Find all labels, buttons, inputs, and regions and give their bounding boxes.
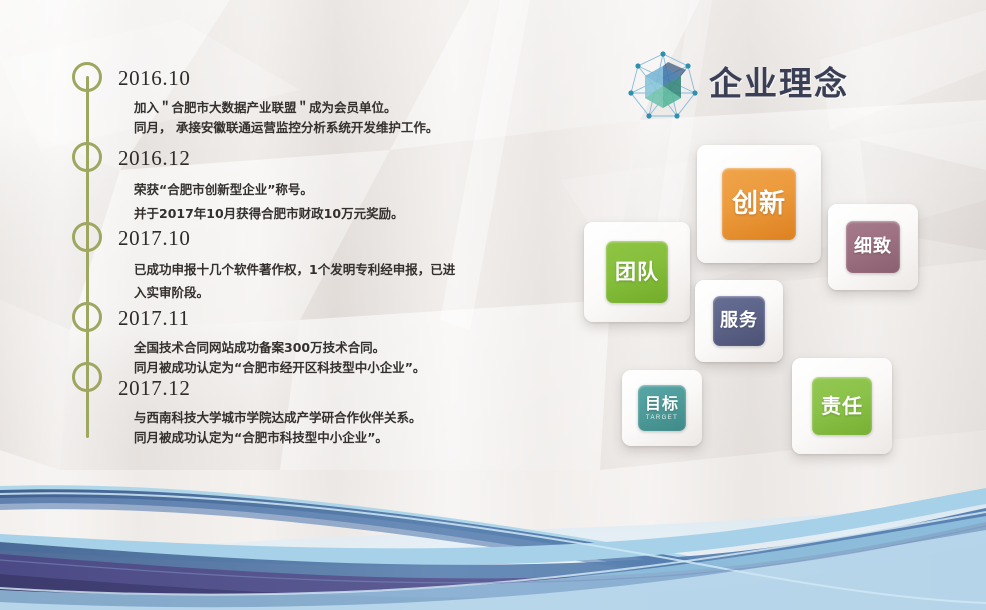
concept-card-team[interactable]: 团队 — [584, 222, 690, 322]
concept-label: 细致 — [854, 238, 892, 256]
timeline-line: 全国技术合同网站成功备案300万技术合同。 — [134, 338, 425, 358]
timeline-line: 同月被成功认定为“合肥市科技型中小企业”。 — [134, 428, 422, 448]
timeline-entry-2: 2017.10 已成功申报十几个软件著作权，1个发明专利经申报，已进入实审阶段。 — [118, 228, 464, 304]
concept-card-meticulous[interactable]: 细致 — [828, 204, 918, 290]
timeline-date: 2017.10 — [118, 228, 464, 249]
timeline-line: 与西南科技大学城市学院达成产学研合作伙伴关系。 — [134, 408, 422, 428]
concept-chip: 创新 — [722, 168, 796, 240]
timeline-entry-1: 2016.12 荣获“合肥市创新型企业”称号。 并于2017年10月获得合肥市财… — [118, 148, 404, 226]
timeline-node-0 — [72, 62, 102, 92]
timeline-description: 与西南科技大学城市学院达成产学研合作伙伴关系。 同月被成功认定为“合肥市科技型中… — [118, 408, 422, 448]
timeline-line: 同月被成功认定为“合肥市经开区科技型中小企业”。 — [134, 358, 425, 378]
timeline-node-3 — [72, 302, 102, 332]
timeline-description: 全国技术合同网站成功备案300万技术合同。 同月被成功认定为“合肥市经开区科技型… — [118, 338, 425, 378]
slide-canvas: 2016.10 加入＂合肥市大数据产业联盟＂成为会员单位。 同月， 承接安徽联通… — [0, 0, 986, 610]
concept-sublabel: TARGET — [646, 415, 678, 421]
concept-chip: 目标 TARGET — [638, 385, 686, 431]
timeline-node-2 — [72, 222, 102, 252]
concept-card-target[interactable]: 目标 TARGET — [622, 370, 702, 446]
concept-chip: 团队 — [606, 241, 668, 303]
concept-chip: 细致 — [846, 221, 900, 273]
concept-label: 责任 — [821, 396, 863, 416]
concept-label: 团队 — [615, 262, 659, 283]
timeline-entry-4: 2017.12 与西南科技大学城市学院达成产学研合作伙伴关系。 同月被成功认定为… — [118, 378, 422, 448]
timeline-date: 2016.10 — [118, 68, 438, 89]
timeline-description: 已成功申报十几个软件著作权，1个发明专利经申报，已进入实审阶段。 — [118, 258, 464, 304]
concept-chip: 服务 — [713, 296, 765, 346]
concept-label: 服务 — [720, 312, 758, 330]
concept-label: 目标 — [645, 396, 679, 412]
timeline-node-1 — [72, 142, 102, 172]
concept-card-responsibility[interactable]: 责任 — [792, 358, 892, 454]
timeline-description: 荣获“合肥市创新型企业”称号。 并于2017年10月获得合肥市财政10万元奖励。 — [118, 178, 404, 226]
timeline-description: 加入＂合肥市大数据产业联盟＂成为会员单位。 同月， 承接安徽联通运营监控分析系统… — [118, 98, 438, 138]
timeline-line: 已成功申报十几个软件著作权，1个发明专利经申报，已进入实审阶段。 — [134, 258, 464, 304]
timeline-line: 加入＂合肥市大数据产业联盟＂成为会员单位。 — [134, 98, 438, 118]
bottom-wave-decoration — [0, 450, 986, 610]
concept-card-innovation[interactable]: 创新 — [697, 145, 821, 263]
timeline-date: 2017.12 — [118, 378, 422, 399]
polygon-gem-network-logo — [624, 48, 702, 126]
timeline-date: 2017.11 — [118, 308, 425, 329]
page-title: 企业理念 — [709, 57, 849, 105]
timeline-entry-3: 2017.11 全国技术合同网站成功备案300万技术合同。 同月被成功认定为“合… — [118, 308, 425, 378]
timeline-line: 荣获“合肥市创新型企业”称号。 — [134, 178, 404, 202]
timeline-date: 2016.12 — [118, 148, 404, 169]
concept-chip: 责任 — [812, 377, 872, 435]
timeline-node-4 — [72, 362, 102, 392]
concept-card-service[interactable]: 服务 — [695, 280, 783, 362]
timeline-line: 同月， 承接安徽联通运营监控分析系统开发维护工作。 — [134, 118, 438, 138]
timeline-line: 并于2017年10月获得合肥市财政10万元奖励。 — [134, 202, 404, 226]
concept-label: 创新 — [732, 191, 786, 217]
timeline-entry-0: 2016.10 加入＂合肥市大数据产业联盟＂成为会员单位。 同月， 承接安徽联通… — [118, 68, 438, 138]
